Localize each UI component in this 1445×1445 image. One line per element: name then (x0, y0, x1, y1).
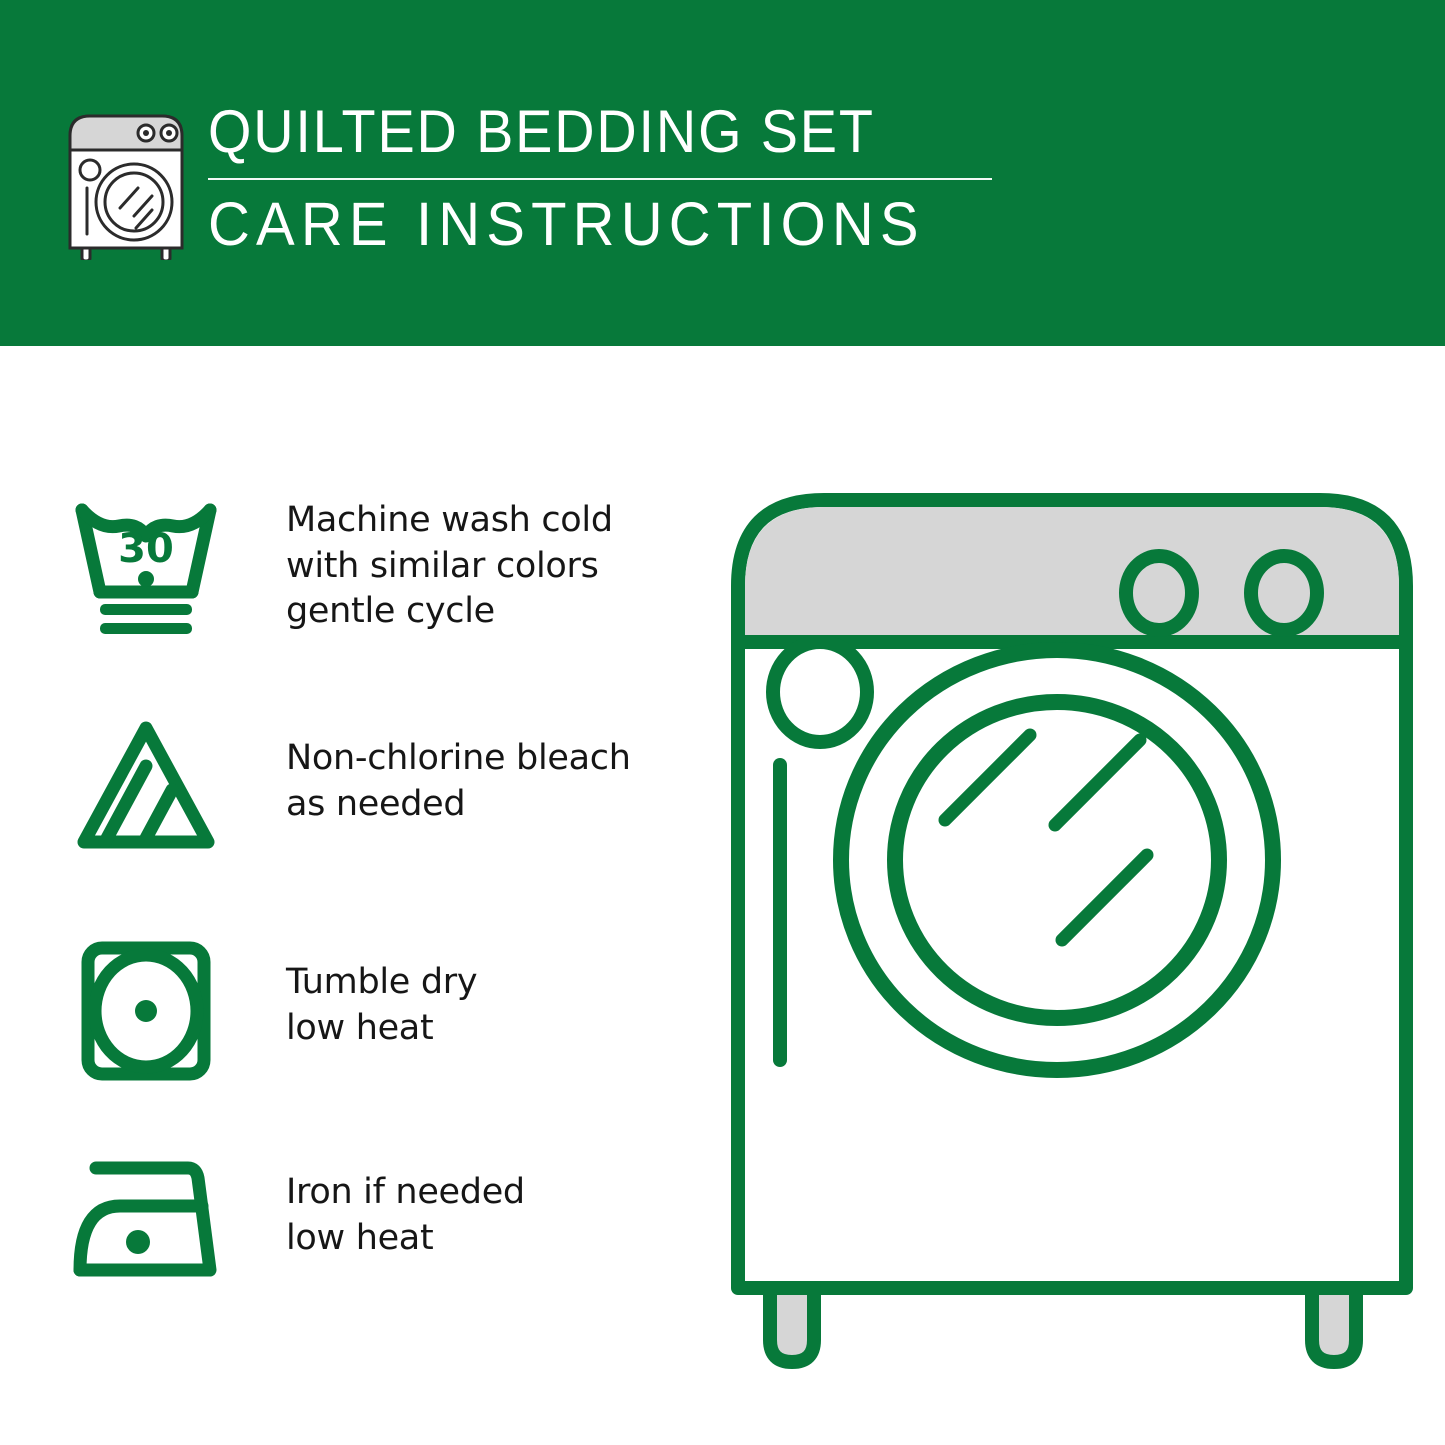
door-inner-ring (895, 702, 1219, 1018)
header-banner: QUILTED BEDDING SET CARE INSTRUCTIONS (0, 0, 1445, 346)
wash-tub-30-icon: 30 (62, 496, 230, 646)
care-label-bleach: Non-chlorine bleach as needed (286, 714, 631, 827)
detergent-dispenser-circle (773, 642, 867, 742)
care-label-iron: Iron if needed low heat (286, 1146, 525, 1261)
header-content: QUILTED BEDDING SET CARE INSTRUCTIONS (62, 96, 992, 260)
wash-temperature-label: 30 (118, 526, 174, 572)
header-title-block: QUILTED BEDDING SET CARE INSTRUCTIONS (208, 96, 992, 255)
care-row-iron: Iron if needed low heat (62, 1146, 682, 1296)
iron-low-heat-icon (62, 1146, 230, 1296)
care-instructions-infographic: QUILTED BEDDING SET CARE INSTRUCTIONS 30 (0, 0, 1445, 1445)
leg-right (1312, 1288, 1356, 1362)
care-row-tumble-dry: Tumble dry low heat (62, 936, 682, 1086)
knob-right (1251, 556, 1317, 630)
washing-machine-icon (62, 100, 190, 260)
care-label-machine-wash: Machine wash cold with similar colors ge… (286, 496, 613, 635)
care-label-tumble-dry: Tumble dry low heat (286, 936, 477, 1051)
front-load-washing-machine-illustration (700, 460, 1440, 1380)
care-row-machine-wash: 30 Machine wash cold with similar colors… (62, 496, 682, 646)
page-subtitle: CARE INSTRUCTIONS (208, 194, 953, 255)
care-row-bleach: Non-chlorine bleach as needed (62, 714, 682, 864)
title-divider (208, 178, 992, 180)
leg-left (770, 1288, 814, 1362)
non-chlorine-bleach-triangle-icon (62, 714, 230, 864)
tumble-dry-low-icon (62, 936, 230, 1086)
knob-left (1126, 556, 1192, 630)
page-title: QUILTED BEDDING SET (208, 96, 937, 162)
